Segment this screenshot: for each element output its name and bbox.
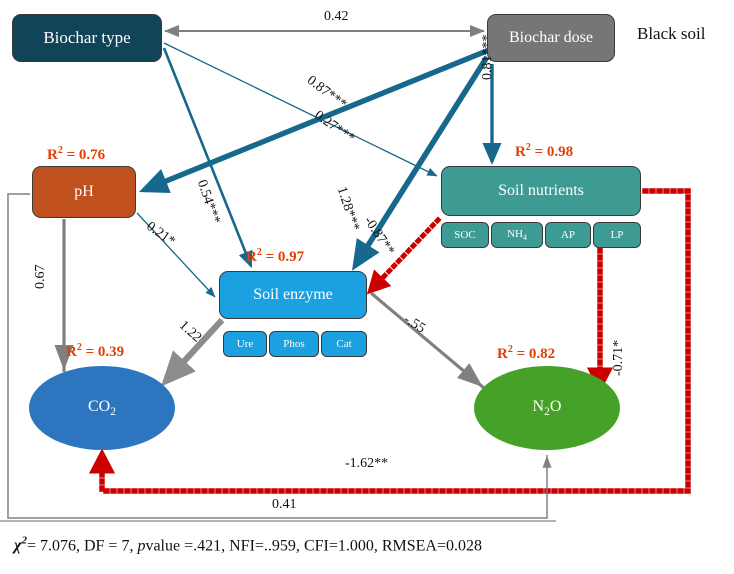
panel-label-black-soil: Black soil: [637, 24, 705, 44]
indicator-nh4[interactable]: NH4: [491, 222, 543, 248]
indicator-lp-label: LP: [611, 229, 624, 241]
r2-label-co2: R2 = 0.39: [66, 342, 124, 361]
edges-layer: [0, 0, 734, 574]
indicator-lp[interactable]: LP: [593, 222, 641, 248]
fit-statistics-line: χ2= 7.076, DF = 7, pvalue =.421, NFI=..9…: [14, 535, 482, 555]
node-ph[interactable]: pH: [32, 166, 136, 218]
node-biochar-type-label: Biochar type: [43, 28, 130, 48]
p-value: value =.421,: [145, 537, 229, 554]
r2-label-ph: R2 = 0.76: [47, 145, 105, 164]
edge-label-type-dose: 0.42: [324, 9, 349, 25]
edge-label-nutrients-co2: -1.62**: [345, 456, 388, 472]
edge-label-ph-co2: 0.67: [33, 265, 49, 290]
chi-square-value: = 7.076,: [27, 537, 84, 554]
indicator-soc[interactable]: SOC: [441, 222, 489, 248]
node-n2o[interactable]: N2O: [474, 366, 620, 450]
node-biochar-type[interactable]: Biochar type: [12, 14, 162, 62]
edge-type-enzyme: [164, 48, 251, 266]
node-co2[interactable]: CO2: [29, 366, 175, 450]
node-co2-label: CO2: [88, 398, 116, 418]
r2-label-soil-nutrients: R2 = 0.98: [515, 142, 573, 161]
node-soil-nutrients[interactable]: Soil nutrients: [441, 166, 641, 216]
indicator-ure-label: Ure: [237, 338, 254, 350]
r2-label-n2o: R2 = 0.82: [497, 344, 555, 363]
node-biochar-dose[interactable]: Biochar dose: [487, 14, 615, 62]
node-ph-label: pH: [74, 183, 94, 201]
edge-enzyme-n2o: [371, 293, 484, 388]
nfi-value: NFI=..959,: [229, 537, 304, 554]
indicator-phos-label: Phos: [283, 338, 304, 350]
indicator-cat-label: Cat: [336, 338, 351, 350]
chi-square-symbol: χ2: [14, 537, 27, 554]
edge-type-nutrients: [164, 43, 437, 176]
node-biochar-dose-label: Biochar dose: [509, 29, 593, 47]
indicator-phos[interactable]: Phos: [269, 331, 319, 357]
indicator-ap-label: AP: [561, 229, 575, 241]
cfi-value: CFI=1.000,: [304, 537, 382, 554]
node-soil-nutrients-label: Soil nutrients: [498, 182, 584, 200]
df-value: DF = 7,: [84, 537, 137, 554]
indicator-nh4-label: NH4: [507, 228, 527, 242]
indicator-ap[interactable]: AP: [545, 222, 591, 248]
node-soil-enzyme[interactable]: Soil enzyme: [219, 271, 367, 319]
r2-label-soil-enzyme: R2 = 0.97: [246, 247, 304, 266]
edge-label-dose-nutrients: 0.81***: [480, 35, 496, 81]
rmsea-value: RMSEA=0.028: [382, 537, 482, 554]
indicator-ure[interactable]: Ure: [223, 331, 267, 357]
node-soil-enzyme-label: Soil enzyme: [253, 286, 333, 304]
indicator-cat[interactable]: Cat: [321, 331, 367, 357]
node-n2o-label: N2O: [533, 398, 562, 418]
edge-label-lp-n2o: -0.71*: [611, 340, 627, 376]
sem-diagram-canvas: Biochar type Biochar dose pH Soil nutrie…: [0, 0, 734, 574]
edge-label-ph-n2o: 0.41: [272, 497, 297, 513]
indicator-soc-label: SOC: [454, 229, 475, 241]
